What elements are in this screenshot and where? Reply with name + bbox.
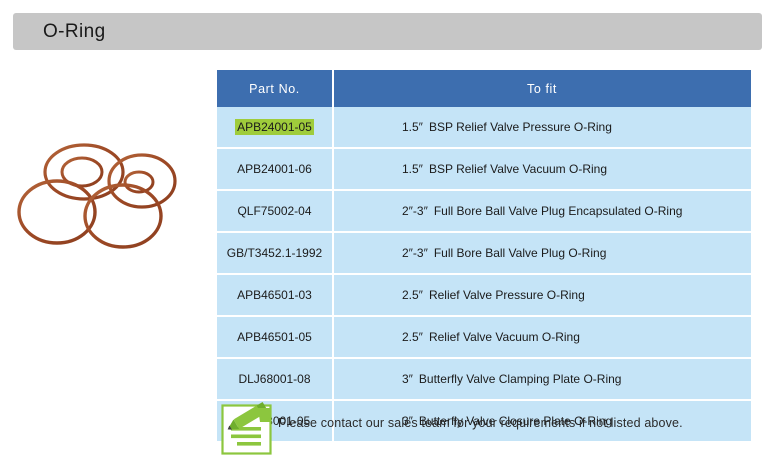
cell-part-no: GB/T3452.1-1992 bbox=[217, 233, 334, 275]
to-fit-description: BSP Relief Valve Vacuum O-Ring bbox=[429, 162, 607, 176]
table-header-row: Part No. To fit bbox=[217, 70, 751, 107]
to-fit-size: 2″-3″ bbox=[402, 246, 428, 260]
to-fit-description: Relief Valve Pressure O-Ring bbox=[429, 288, 585, 302]
cell-part-no: APB24001-06 bbox=[217, 149, 334, 191]
column-header-part-no: Part No. bbox=[217, 70, 334, 107]
table-row: DLJ68001-083″Butterfly Valve Clamping Pl… bbox=[217, 359, 751, 401]
to-fit-description: BSP Relief Valve Pressure O-Ring bbox=[429, 120, 612, 134]
part-no-value: QLF75002-04 bbox=[235, 203, 313, 219]
to-fit-description: Full Bore Ball Valve Plug Encapsulated O… bbox=[434, 204, 683, 218]
page-title-bar: O-Ring bbox=[13, 13, 762, 50]
footer-note: Please contact our sales team for your r… bbox=[220, 396, 740, 458]
to-fit-size: 1.5″ bbox=[402, 120, 423, 134]
to-fit-description: Full Bore Ball Valve Plug O-Ring bbox=[434, 246, 607, 260]
table-row: QLF75002-042″-3″Full Bore Ball Valve Plu… bbox=[217, 191, 751, 233]
cell-part-no: APB24001-05 bbox=[217, 107, 334, 149]
part-no-value: DLJ68001-08 bbox=[236, 371, 312, 387]
to-fit-description: Butterfly Valve Clamping Plate O-Ring bbox=[419, 372, 622, 386]
table-row: APB24001-051.5″BSP Relief Valve Pressure… bbox=[217, 107, 751, 149]
table-row: APB46501-032.5″Relief Valve Pressure O-R… bbox=[217, 275, 751, 317]
cell-to-fit: 2″-3″Full Bore Ball Valve Plug O-Ring bbox=[334, 233, 751, 275]
table-row: GB/T3452.1-19922″-3″Full Bore Ball Valve… bbox=[217, 233, 751, 275]
part-no-value: APB46501-03 bbox=[235, 287, 314, 303]
cell-to-fit: 3″Butterfly Valve Clamping Plate O-Ring bbox=[334, 359, 751, 401]
cell-part-no: DLJ68001-08 bbox=[217, 359, 334, 401]
to-fit-size: 2.5″ bbox=[402, 288, 423, 302]
table-row: APB24001-061.5″BSP Relief Valve Vacuum O… bbox=[217, 149, 751, 191]
cell-part-no: QLF75002-04 bbox=[217, 191, 334, 233]
to-fit-size: 1.5″ bbox=[402, 162, 423, 176]
cell-to-fit: 2.5″Relief Valve Vacuum O-Ring bbox=[334, 317, 751, 359]
part-no-highlighted: APB24001-05 bbox=[235, 119, 314, 135]
to-fit-size: 2.5″ bbox=[402, 330, 423, 344]
parts-table: Part No. To fit APB24001-051.5″BSP Relie… bbox=[217, 70, 751, 441]
cell-to-fit: 1.5″BSP Relief Valve Vacuum O-Ring bbox=[334, 149, 751, 191]
o-ring-set-photo bbox=[6, 128, 206, 252]
part-no-value: GB/T3452.1-1992 bbox=[225, 245, 324, 261]
to-fit-size: 2″-3″ bbox=[402, 204, 428, 218]
cell-to-fit: 1.5″BSP Relief Valve Pressure O-Ring bbox=[334, 107, 751, 149]
to-fit-size: 3″ bbox=[402, 372, 413, 386]
to-fit-description: Relief Valve Vacuum O-Ring bbox=[429, 330, 580, 344]
cell-part-no: APB46501-03 bbox=[217, 275, 334, 317]
footer-note-text: Please contact our sales team for your r… bbox=[278, 416, 683, 430]
cell-to-fit: 2″-3″Full Bore Ball Valve Plug Encapsula… bbox=[334, 191, 751, 233]
part-no-value: APB24001-06 bbox=[235, 161, 314, 177]
cell-to-fit: 2.5″Relief Valve Pressure O-Ring bbox=[334, 275, 751, 317]
note-pen-icon bbox=[220, 396, 278, 456]
column-header-to-fit: To fit bbox=[334, 70, 751, 107]
cell-part-no: APB46501-05 bbox=[217, 317, 334, 359]
page-title: O-Ring bbox=[43, 21, 106, 43]
table-row: APB46501-052.5″Relief Valve Vacuum O-Rin… bbox=[217, 317, 751, 359]
part-no-value: APB46501-05 bbox=[235, 329, 314, 345]
